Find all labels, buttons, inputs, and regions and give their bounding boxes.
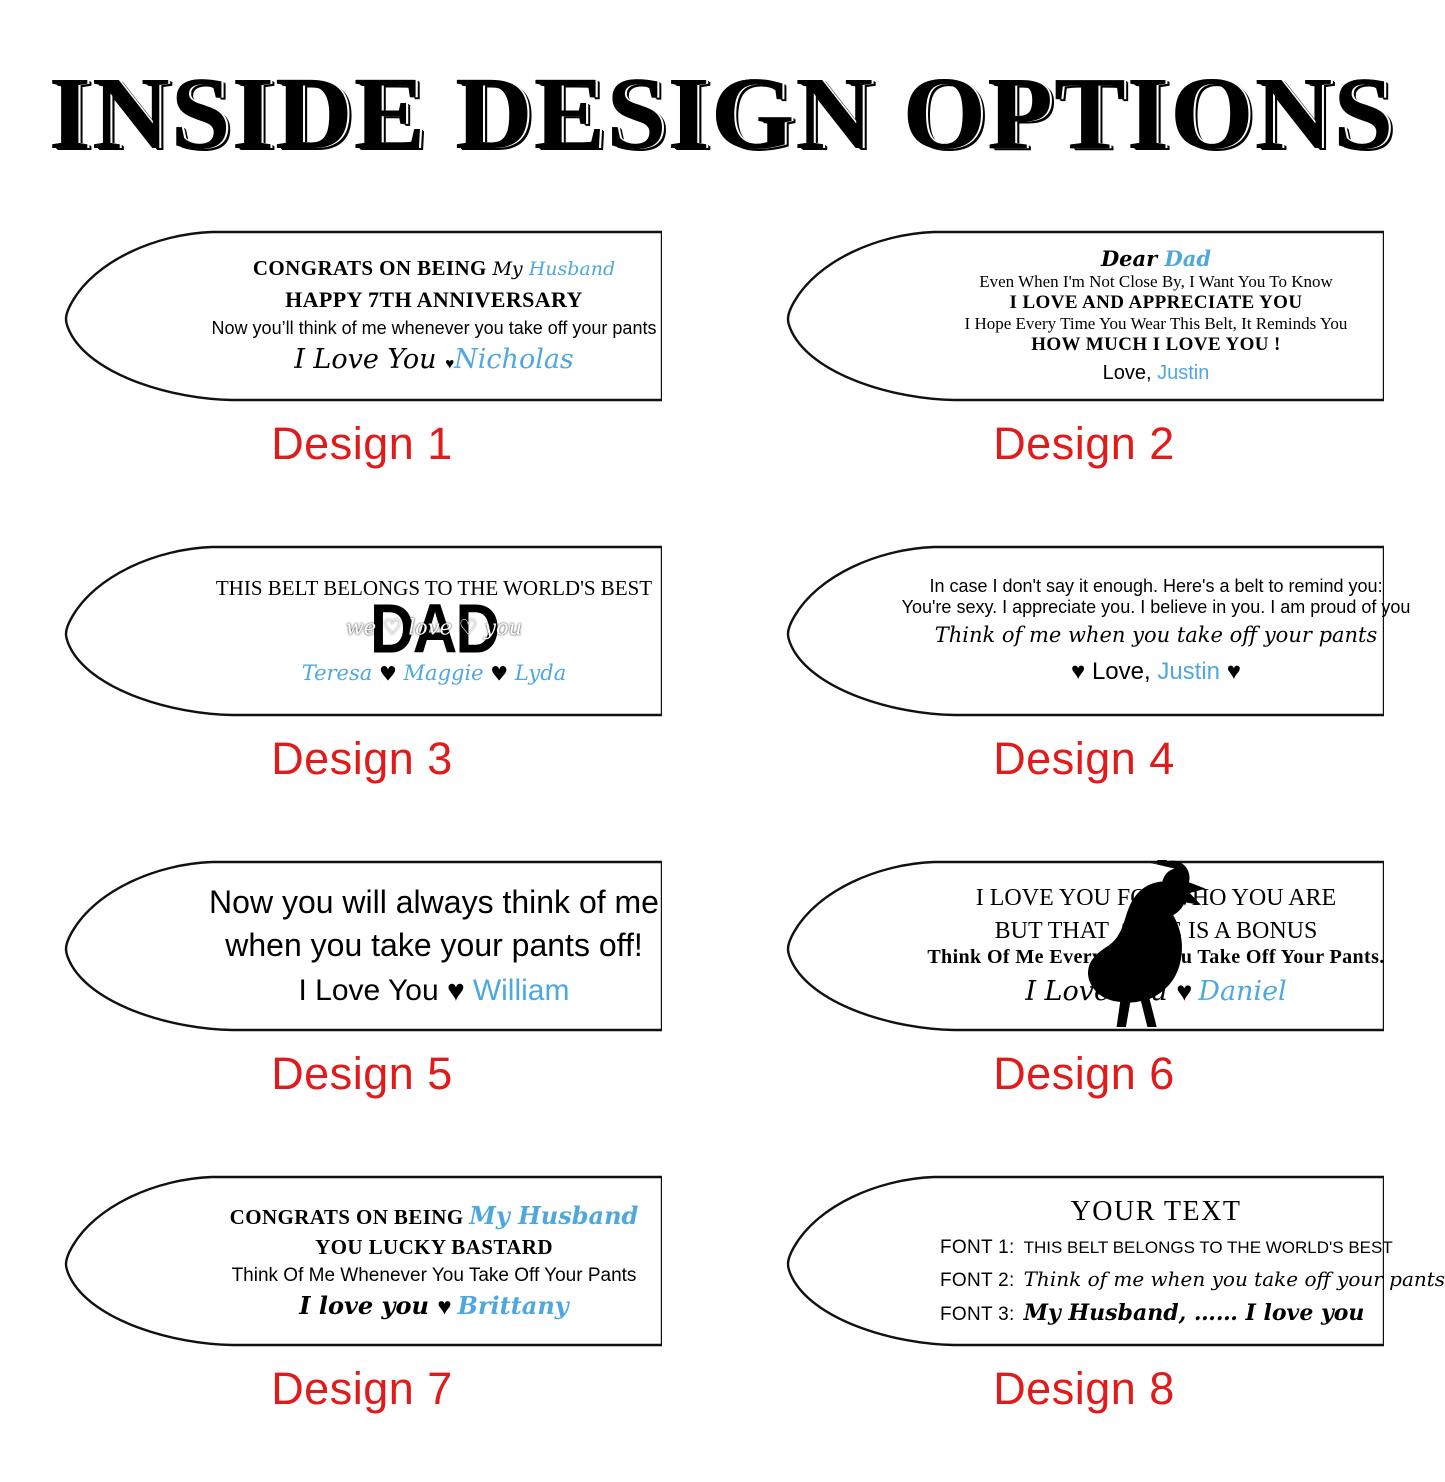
design-label-8: Design 8 <box>722 1363 1445 1415</box>
design3-dad-lockup: DAD we ♡ love ♡ you <box>370 601 498 658</box>
design3-we-love-you: we ♡ love ♡ you <box>346 618 522 637</box>
design1-line-4: I Love You ♥Nicholas <box>294 344 574 376</box>
design-label-2: Design 2 <box>722 418 1445 470</box>
belt-outline-1: CONGRATS ON BEING My Husband HAPPY 7TH A… <box>62 230 662 402</box>
design8-font3-value: My Husband, …… I love you <box>1024 1301 1365 1327</box>
design8-font3-key: FONT 3: <box>940 1304 1015 1326</box>
design-cell-6[interactable]: I LOVE YOU FOR WHO YOU ARE BUT THAT SURE… <box>722 852 1445 1167</box>
design5-line-3: I Love You ♥William <box>299 973 570 1008</box>
design1-line-1: CONGRATS ON BEING My Husband <box>253 256 615 282</box>
design7-line-2: YOU LUCKY BASTARD <box>315 1235 553 1260</box>
belt-text-2: Dear Dad Even When I'm Not Close By, I W… <box>932 230 1380 402</box>
heart-icon: ♥ <box>437 1294 451 1321</box>
design5-line-1: Now you will always think of me <box>209 884 659 922</box>
belt-outline-8: YOUR TEXT FONT 1:THIS BELT BELONGS TO TH… <box>784 1175 1384 1347</box>
design8-font1-row: FONT 1:THIS BELT BELONGS TO THE WORLD'S … <box>932 1237 1380 1259</box>
design4-line-2: You're sexy. I appreciate you. I believe… <box>902 597 1411 618</box>
design8-heading: YOUR TEXT <box>1071 1195 1242 1228</box>
design-cell-1[interactable]: CONGRATS ON BEING My Husband HAPPY 7TH A… <box>0 222 722 537</box>
design4-line-4: ♥ Love, Justin ♥ <box>1071 658 1241 686</box>
design-cell-3[interactable]: THIS BELT BELONGS TO THE WORLD'S BEST DA… <box>0 537 722 852</box>
design-label-5: Design 5 <box>0 1048 724 1100</box>
heart-icon: ♥ <box>447 974 465 1007</box>
design-cell-2[interactable]: Dear Dad Even When I'm Not Close By, I W… <box>722 222 1445 537</box>
design-cell-8[interactable]: YOUR TEXT FONT 1:THIS BELT BELONGS TO TH… <box>722 1167 1445 1482</box>
belt-text-4: In case I don't say it enough. Here's a … <box>932 545 1380 717</box>
belt-text-1: CONGRATS ON BEING My Husband HAPPY 7TH A… <box>210 230 658 402</box>
design4-line-1: In case I don't say it enough. Here's a … <box>929 576 1382 597</box>
design2-line-3: I LOVE AND APPRECIATE YOU <box>1010 292 1303 314</box>
design-grid: CONGRATS ON BEING My Husband HAPPY 7TH A… <box>0 222 1445 1482</box>
belt-outline-4: In case I don't say it enough. Here's a … <box>784 545 1384 717</box>
belt-outline-2: Dear Dad Even When I'm Not Close By, I W… <box>784 230 1384 402</box>
design-label-3: Design 3 <box>0 733 724 785</box>
design-label-4: Design 4 <box>722 733 1445 785</box>
design8-font1-value: THIS BELT BELONGS TO THE WORLD'S BEST <box>1024 1238 1393 1258</box>
belt-outline-7: CONGRATS ON BEING My Husband YOU LUCKY B… <box>62 1175 662 1347</box>
page-title: INSIDE DESIGN OPTIONS <box>0 62 1445 166</box>
belt-outline-5: Now you will always think of me when you… <box>62 860 662 1032</box>
design-cell-7[interactable]: CONGRATS ON BEING My Husband YOU LUCKY B… <box>0 1167 722 1482</box>
design7-line-1: CONGRATS ON BEING My Husband <box>230 1202 639 1230</box>
design2-line-5: HOW MUCH I LOVE YOU ! <box>1031 334 1281 356</box>
belt-text-5: Now you will always think of me when you… <box>210 860 658 1032</box>
heart-icon: ♥ <box>445 355 454 372</box>
belt-outline-6: I LOVE YOU FOR WHO YOU ARE BUT THAT SURE… <box>784 860 1384 1032</box>
design8-font2-key: FONT 2: <box>940 1270 1015 1292</box>
belt-text-6: I LOVE YOU FOR WHO YOU ARE BUT THAT SURE… <box>932 860 1380 1032</box>
design2-line-6: Love, Justin <box>1103 362 1210 386</box>
design-label-6: Design 6 <box>722 1048 1445 1100</box>
design1-line-2: HAPPY 7TH ANNIVERSARY <box>285 287 583 313</box>
belt-text-7: CONGRATS ON BEING My Husband YOU LUCKY B… <box>210 1175 658 1347</box>
design1-line-3: Now you’ll think of me whenever you take… <box>212 318 657 339</box>
belt-outline-3: THIS BELT BELONGS TO THE WORLD'S BEST DA… <box>62 545 662 717</box>
design-cell-5[interactable]: Now you will always think of me when you… <box>0 852 722 1167</box>
design2-line-2: Even When I'm Not Close By, I Want You T… <box>979 272 1333 292</box>
design8-font3-row: FONT 3:My Husband, …… I love you <box>932 1301 1380 1327</box>
design4-line-3: Think of me when you take off your pants <box>935 623 1378 648</box>
design7-line-4: I love you ♥Brittany <box>299 1292 568 1320</box>
design7-line-3: Think Of Me Whenever You Take Off Your P… <box>232 1265 637 1287</box>
design-cell-4[interactable]: In case I don't say it enough. Here's a … <box>722 537 1445 852</box>
design8-font2-value: Think of me when you take off your pants <box>1024 1268 1445 1292</box>
design8-font2-row: FONT 2:Think of me when you take off you… <box>932 1268 1380 1292</box>
design2-line-4: I Hope Every Time You Wear This Belt, It… <box>965 314 1348 334</box>
design-label-1: Design 1 <box>0 418 724 470</box>
belt-text-8: YOUR TEXT FONT 1:THIS BELT BELONGS TO TH… <box>932 1175 1380 1347</box>
design5-line-2: when you take your pants off! <box>225 927 642 965</box>
design6-line-2: BUT THAT SURE IS A BONUS <box>995 917 1318 945</box>
design-label-7: Design 7 <box>0 1363 724 1415</box>
heart-icon: ♥ <box>1220 658 1241 685</box>
design8-font1-key: FONT 1: <box>940 1237 1015 1259</box>
belt-text-3: THIS BELT BELONGS TO THE WORLD'S BEST DA… <box>210 545 658 717</box>
design2-line-1: Dear Dad <box>1101 247 1211 272</box>
